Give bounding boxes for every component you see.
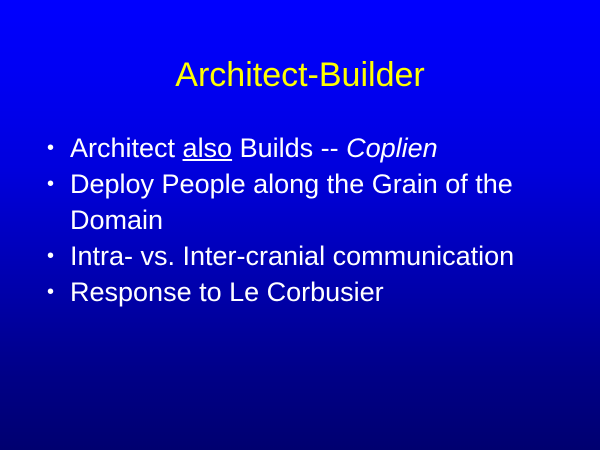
bullet-text-run: Intra- vs. Inter-cranial communication: [70, 241, 514, 271]
emphasis-underline-text: also: [183, 133, 233, 163]
bullet-item-label: Architect also Builds -- Coplien: [70, 130, 540, 166]
bullet-text-run: Builds --: [232, 133, 346, 163]
bullet-point-icon: •: [47, 130, 61, 166]
bullet-point-icon: •: [47, 166, 61, 202]
slide-title: Architect-Builder: [0, 55, 600, 95]
bullet-item-architect-also-builds: •Architect also Builds -- Coplien: [40, 130, 540, 166]
slide-bullet-list: •Architect also Builds -- Coplien•Deploy…: [40, 130, 540, 310]
emphasis-italic-text: Coplien: [346, 133, 438, 163]
bullet-item-response-to-le-corbusier: •Response to Le Corbusier: [40, 274, 540, 310]
bullet-text-run: Deploy People along the Grain of the Dom…: [70, 169, 513, 235]
bullet-item-label: Deploy People along the Grain of the Dom…: [70, 166, 540, 238]
bullet-item-deploy-people-grain-domain: •Deploy People along the Grain of the Do…: [40, 166, 540, 238]
bullet-item-intra-vs-inter-cranial: •Intra- vs. Inter-cranial communication: [40, 238, 540, 274]
bullet-point-icon: •: [47, 238, 61, 274]
bullet-item-label: Response to Le Corbusier: [70, 274, 540, 310]
bullet-item-label: Intra- vs. Inter-cranial communication: [70, 238, 540, 274]
bullet-point-icon: •: [47, 274, 61, 310]
presentation-slide: Architect-Builder •Architect also Builds…: [0, 0, 600, 450]
bullet-text-run: Response to Le Corbusier: [70, 277, 384, 307]
bullet-text-run: Architect: [70, 133, 183, 163]
